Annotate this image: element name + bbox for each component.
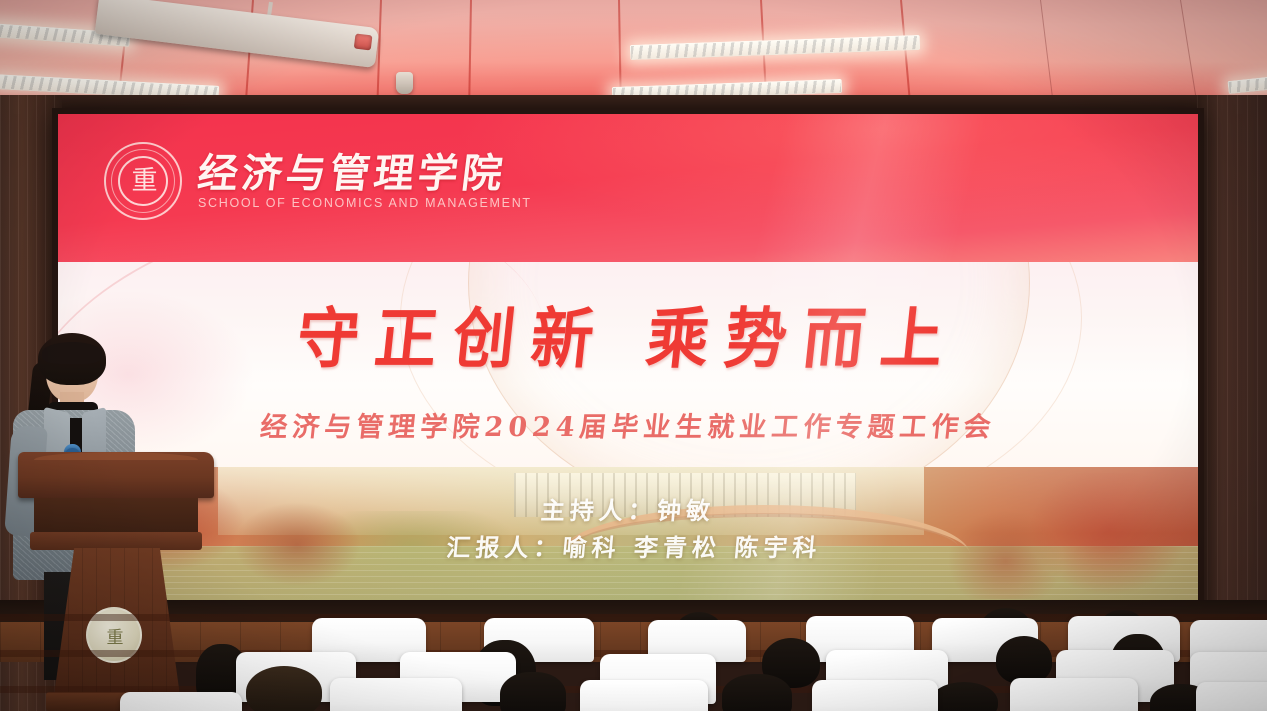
audience-chair	[330, 678, 462, 711]
slide-title: 守正创新 乘势而上	[58, 306, 1198, 372]
audience-chair	[812, 680, 938, 711]
audience-seating	[0, 600, 1267, 711]
university-seal-icon: 重	[104, 142, 182, 220]
reporter-line: 汇报人：喻科 李青松 陈宇科	[58, 529, 1198, 566]
audience-head	[500, 672, 566, 711]
audience-head	[722, 674, 792, 711]
seal-glyph: 重	[131, 168, 154, 194]
audience-head	[246, 666, 322, 711]
audience-chair	[1196, 682, 1267, 711]
audience-head	[996, 636, 1052, 684]
logo-text-block: 经济与管理学院 SCHOOL OF ECONOMICS AND MANAGEME…	[198, 153, 532, 210]
projection-screen: 重 经济与管理学院 SCHOOL OF ECONOMICS AND MANAGE…	[58, 114, 1198, 614]
podium-shelf	[30, 532, 202, 550]
speaker-fringe	[42, 342, 102, 364]
host-line: 主持人：钟敏	[58, 492, 1198, 529]
smoke-detector-icon	[396, 72, 413, 94]
seal-center: 重	[118, 156, 168, 206]
projector-lens	[354, 33, 373, 50]
presenter-credits: 主持人：钟敏 汇报人：喻科 李青松 陈宇科	[58, 492, 1198, 566]
slide-subtitle: 经济与管理学院2024届毕业生就业工作专题工作会	[58, 414, 1198, 441]
school-logo: 重 经济与管理学院 SCHOOL OF ECONOMICS AND MANAGE…	[104, 142, 532, 220]
audience-chair	[1010, 678, 1138, 711]
school-name-cn: 经济与管理学院	[195, 153, 534, 195]
audience-chair	[580, 680, 708, 711]
conference-hall-scene: 重 经济与管理学院 SCHOOL OF ECONOMICS AND MANAGE…	[0, 0, 1267, 711]
audience-chair	[120, 692, 242, 711]
school-name-en: SCHOOL OF ECONOMICS AND MANAGEMENT	[198, 197, 532, 210]
podium-top	[18, 452, 214, 498]
podium-neck	[34, 498, 198, 532]
